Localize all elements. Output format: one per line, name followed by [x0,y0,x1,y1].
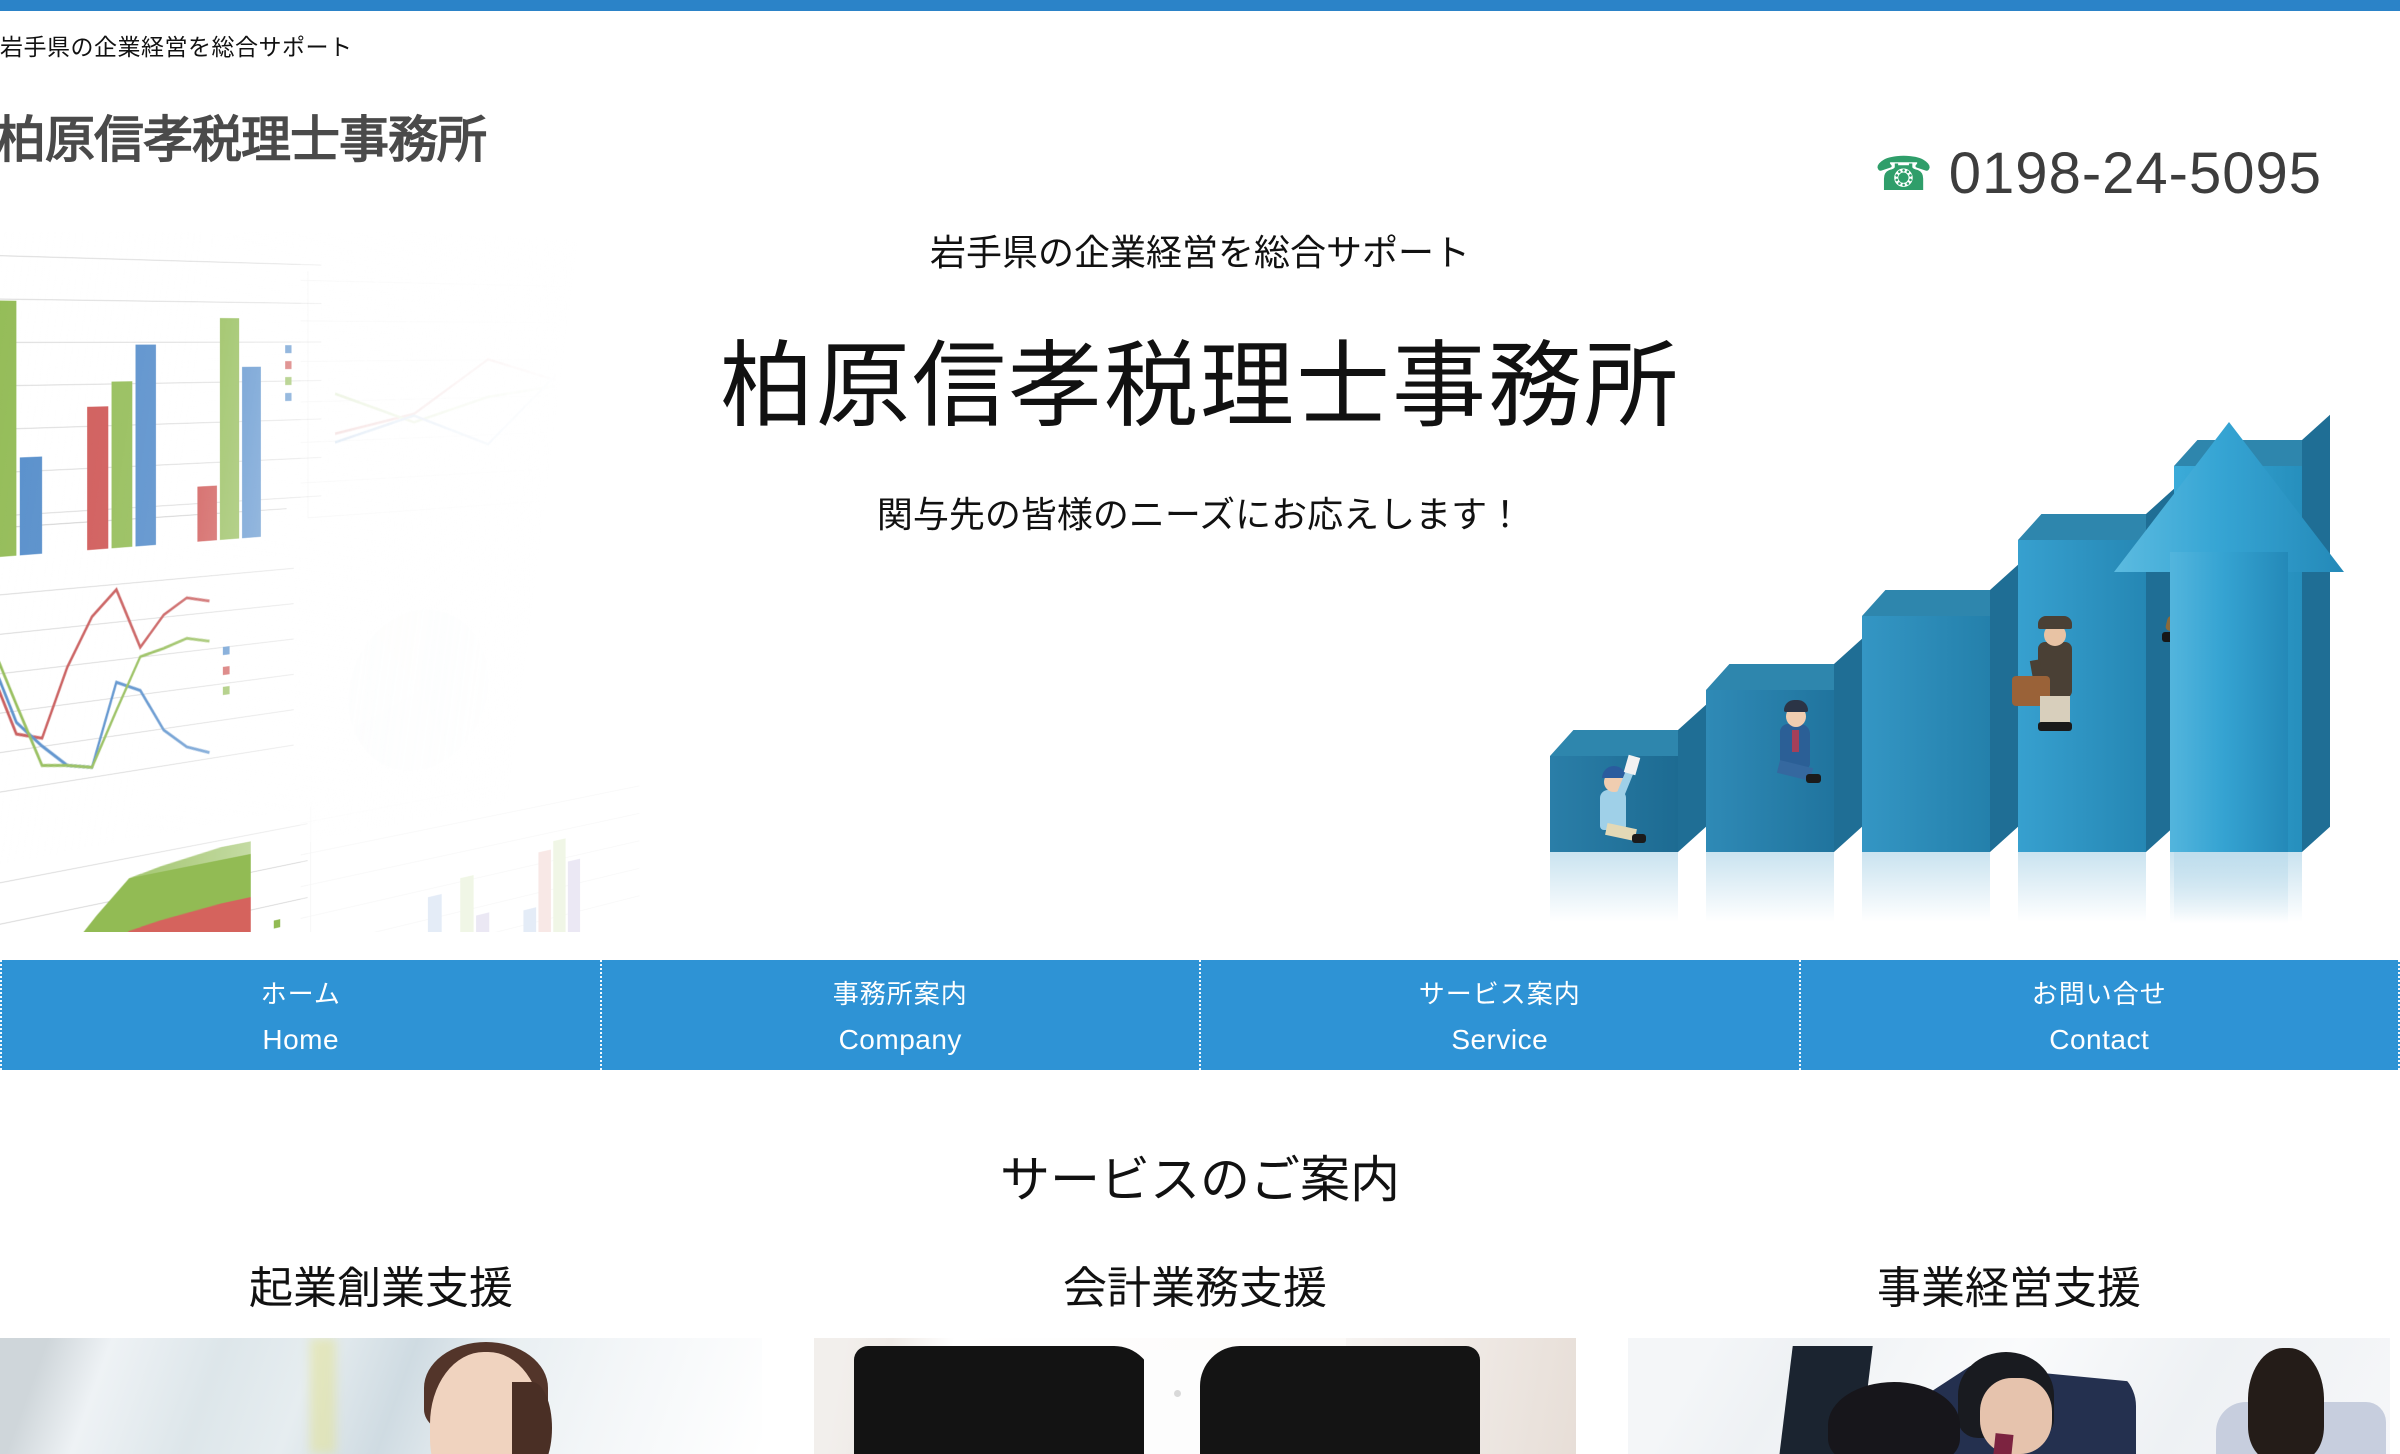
charts-collage-graphic [0,232,644,912]
collage-line-svg [0,557,258,827]
nav-item-service-ja: サービス案内 [1419,974,1581,1011]
service-card-management-title: 事業経営支援 [1628,1252,2390,1316]
collage-area-chart [0,807,308,932]
phone-number: 0198-24-5095 [1949,140,2322,207]
growth-chart-graphic [1540,422,2400,932]
header-phone[interactable]: ☎ 0198-24-5095 [1874,140,2322,207]
hero-banner [0,232,2400,932]
nav-item-company-ja: 事務所案内 [833,974,968,1011]
collage-pie-chart [349,603,489,783]
services-heading: サービスのご案内 [0,1140,2400,1212]
growth-bar-3 [1862,616,1990,852]
service-card-management[interactable]: 事業経営支援 [1628,1252,2390,1454]
nav-item-contact[interactable]: お問い合せ Contact [1801,960,2400,1070]
nav-item-contact-ja: お問い合せ [2032,974,2167,1011]
collage-faint-line-chart [301,262,629,553]
service-cards: 起業創業支援 会計業務支援 事業経営支援 [0,1252,2400,1454]
nav-item-service[interactable]: サービス案内 Service [1201,960,1801,1070]
top-accent-bar [0,0,2400,11]
service-card-startup[interactable]: 起業創業支援 [0,1252,762,1454]
service-card-startup-title: 起業創業支援 [0,1252,762,1316]
nav-item-home-ja: ホーム [261,974,341,1011]
nav-item-home-en: Home [262,1024,339,1056]
collage-bar-chart [0,236,321,567]
nav-item-contact-en: Contact [2049,1024,2149,1056]
nav-item-service-en: Service [1451,1024,1548,1056]
collage-line-chart [0,554,294,857]
service-card-startup-image [0,1338,762,1454]
site-logo[interactable]: 柏原信孝税理士事務所 [0,100,486,172]
service-card-management-image [1628,1338,2390,1454]
nav-item-company-en: Company [839,1024,962,1056]
growth-bar-2 [1706,690,1834,852]
phone-icon: ☎ [1874,150,1933,197]
collage-faint-bar-chart [301,738,640,932]
collage-faint-line-svg [301,262,618,526]
collage-area-svg [0,815,265,932]
upward-arrow-icon [2114,422,2344,852]
nav-item-home[interactable]: ホーム Home [0,960,602,1070]
main-navigation: ホーム Home 事務所案内 Company サービス案内 Service お問… [0,960,2400,1070]
header-tagline: 岩手県の企業経営を総合サポート [0,28,353,62]
nav-item-company[interactable]: 事務所案内 Company [602,960,1202,1070]
service-card-accounting-image [814,1338,1576,1454]
service-card-accounting-title: 会計業務支援 [814,1252,1576,1316]
service-card-accounting[interactable]: 会計業務支援 [814,1252,1576,1454]
